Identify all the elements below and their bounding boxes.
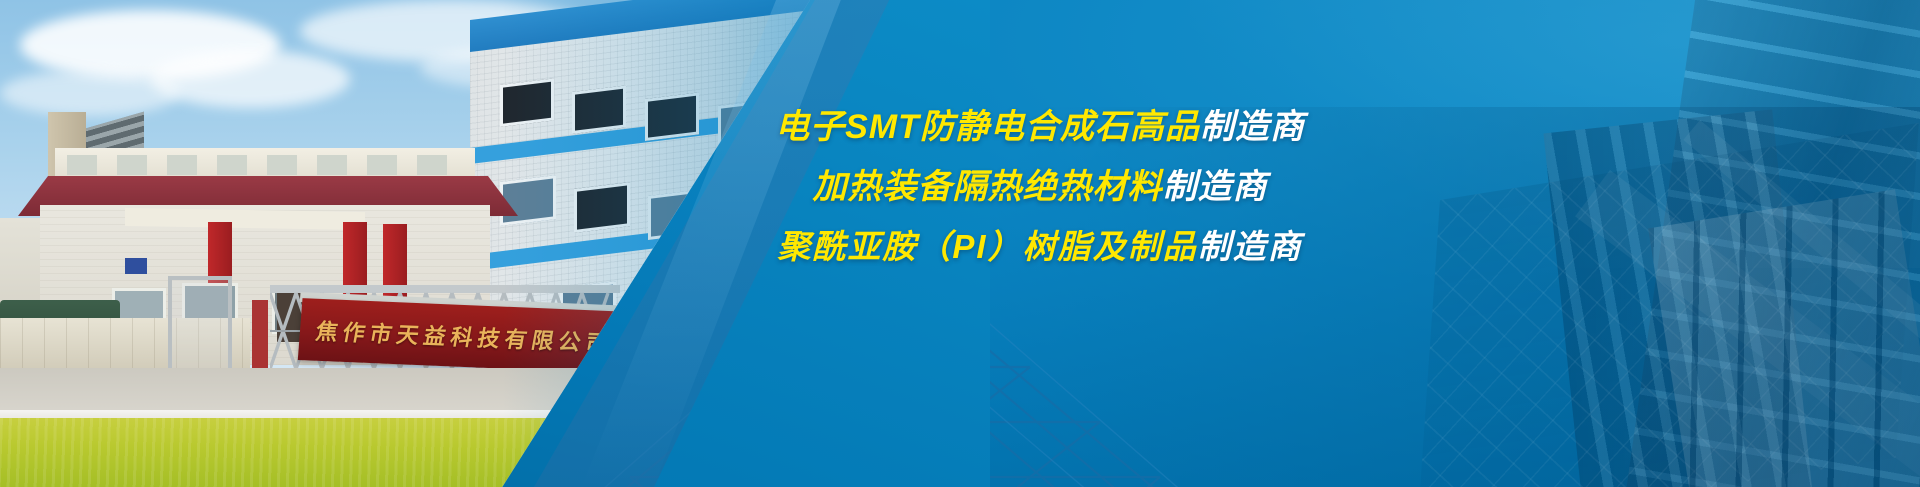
- headline-3-yellow: 聚酰亚胺（PI）树脂及制品: [777, 228, 1197, 265]
- louvered-slab-decor: [1648, 189, 1920, 487]
- headline-line-3: 聚酰亚胺（PI）树脂及制品制造商: [690, 230, 1390, 263]
- headline-1-white: 制造商: [1200, 108, 1305, 146]
- headline-2-yellow: 加热装备隔热绝热材料: [813, 168, 1163, 206]
- headline-3-white: 制造商: [1198, 228, 1303, 265]
- headline-line-2: 加热装备隔热绝热材料制造商: [690, 170, 1390, 204]
- headline-group: 电子SMT防静电合成石高品制造商 加热装备隔热绝热材料制造商 聚酰亚胺（PI）树…: [690, 110, 1390, 263]
- headline-line-1: 电子SMT防静电合成石高品制造商: [690, 110, 1390, 144]
- headline-2-white: 制造商: [1163, 168, 1268, 206]
- company-hero-banner: 焦作市天益科技有限公司 电子SMT防静电合成石高品制造商 加热装备隔热绝热材料制…: [0, 0, 1920, 487]
- headline-1-yellow: 电子SMT防静电合成石高品: [775, 108, 1200, 146]
